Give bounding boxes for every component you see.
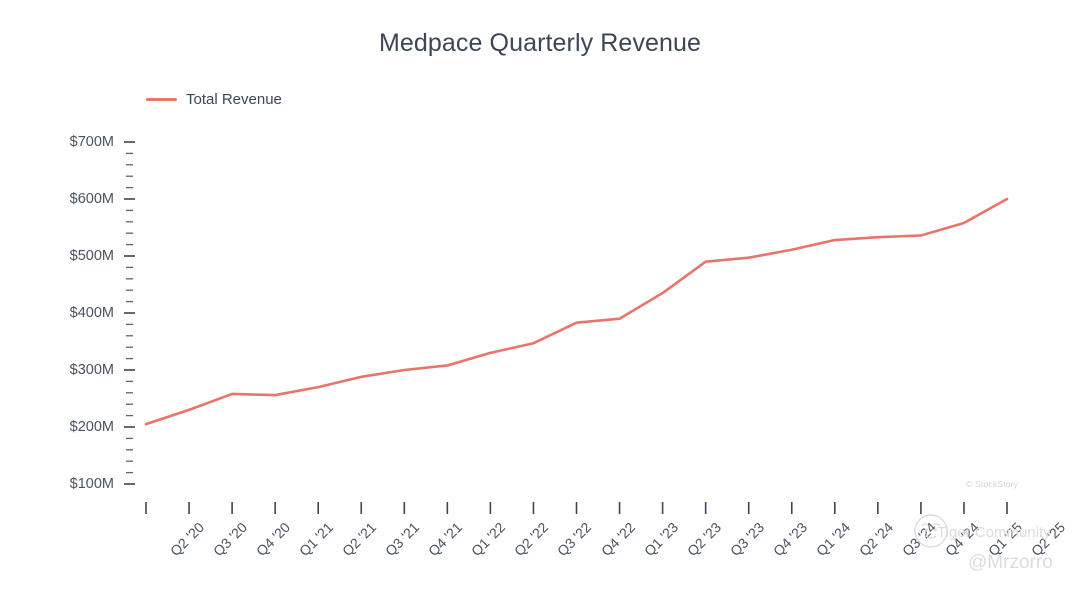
watermark-handle: @Mrzorro bbox=[968, 552, 1053, 574]
x-axis-labels: Q2 '20Q3 '20Q4 '20Q1 '21Q2 '21Q3 '21Q4 '… bbox=[0, 0, 1080, 593]
x-axis-tick-label: Q1 '24 bbox=[813, 519, 853, 559]
x-axis-tick-label: Q3 '22 bbox=[554, 519, 594, 559]
watermark-community: Tiger Community bbox=[937, 524, 1051, 541]
x-axis-tick-label: Q3 '20 bbox=[210, 519, 250, 559]
x-axis-tick-label: Q4 '20 bbox=[253, 519, 293, 559]
x-axis-tick-label: Q2 '20 bbox=[167, 519, 207, 559]
x-axis-tick-label: Q2 '22 bbox=[511, 519, 551, 559]
x-axis-tick-label: Q1 '22 bbox=[468, 519, 508, 559]
x-axis-tick-label: Q3 '23 bbox=[727, 519, 767, 559]
chart-container: Medpace Quarterly Revenue Total Revenue … bbox=[0, 0, 1080, 593]
x-axis-tick-label: Q2 '23 bbox=[684, 519, 724, 559]
x-axis-tick-label: Q4 '23 bbox=[770, 519, 810, 559]
x-axis-tick-label: Q4 '21 bbox=[425, 519, 465, 559]
x-axis-tick-label: Q3 '21 bbox=[382, 519, 422, 559]
x-axis-tick-label: Q4 '22 bbox=[597, 519, 637, 559]
x-axis-tick-label: Q2 '24 bbox=[856, 519, 896, 559]
x-axis-tick-label: Q1 '21 bbox=[296, 519, 336, 559]
x-axis-tick-label: Q2 '21 bbox=[339, 519, 379, 559]
stockstory-attribution: © StockStory bbox=[966, 479, 1018, 489]
x-axis-tick-label: Q1 '23 bbox=[641, 519, 681, 559]
